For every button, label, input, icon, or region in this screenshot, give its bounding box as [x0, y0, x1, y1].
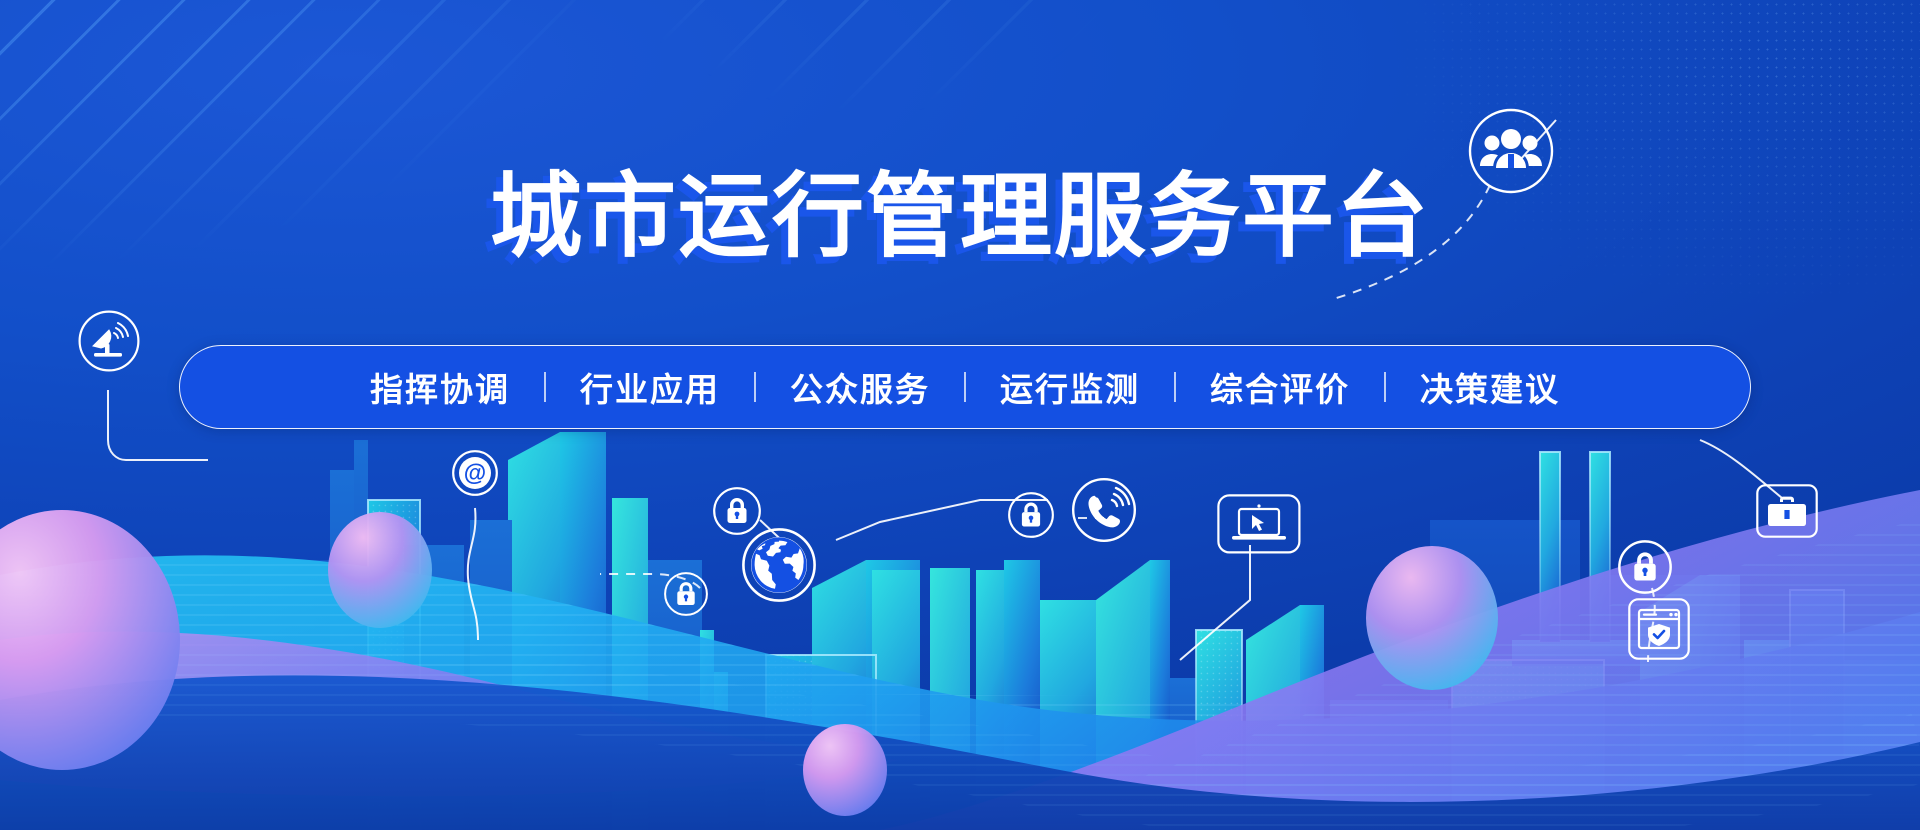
nav-item-industry-application[interactable]: 行业应用 — [546, 363, 754, 411]
briefcase-icon[interactable] — [1756, 484, 1818, 538]
main-nav-pill: 指挥协调 行业应用 公众服务 运行监测 综合评价 决策建议 — [179, 345, 1751, 429]
at-sign-icon[interactable]: @ — [452, 450, 498, 496]
nav-item-command-coordination[interactable]: 指挥协调 — [336, 363, 544, 411]
lock-icon-4[interactable] — [1618, 540, 1672, 594]
banner-root: 城市运行管理服务平台 指挥协调 行业应用 公众服务 运行监测 综合评价 决策建议 — [0, 0, 1920, 830]
nav-item-public-service[interactable]: 公众服务 — [756, 363, 964, 411]
nav-item-comprehensive-evaluation[interactable]: 综合评价 — [1176, 363, 1384, 411]
nav-item-operation-monitoring[interactable]: 运行监测 — [966, 363, 1174, 411]
svg-text:@: @ — [464, 460, 486, 486]
laptop-cursor-icon[interactable] — [1217, 494, 1301, 554]
lock-icon-2[interactable] — [664, 572, 708, 616]
main-nav-container: 指挥协调 行业应用 公众服务 运行监测 综合评价 决策建议 — [179, 345, 1751, 429]
browser-shield-icon[interactable] — [1628, 598, 1690, 660]
page-title: 城市运行管理服务平台 — [0, 168, 1920, 267]
nav-item-decision-advice[interactable]: 决策建议 — [1386, 363, 1594, 411]
globe-icon[interactable] — [742, 528, 816, 602]
satellite-dish-icon[interactable] — [78, 310, 140, 372]
lock-icon-3[interactable] — [1008, 492, 1054, 538]
phone-signal-icon[interactable] — [1072, 478, 1136, 542]
